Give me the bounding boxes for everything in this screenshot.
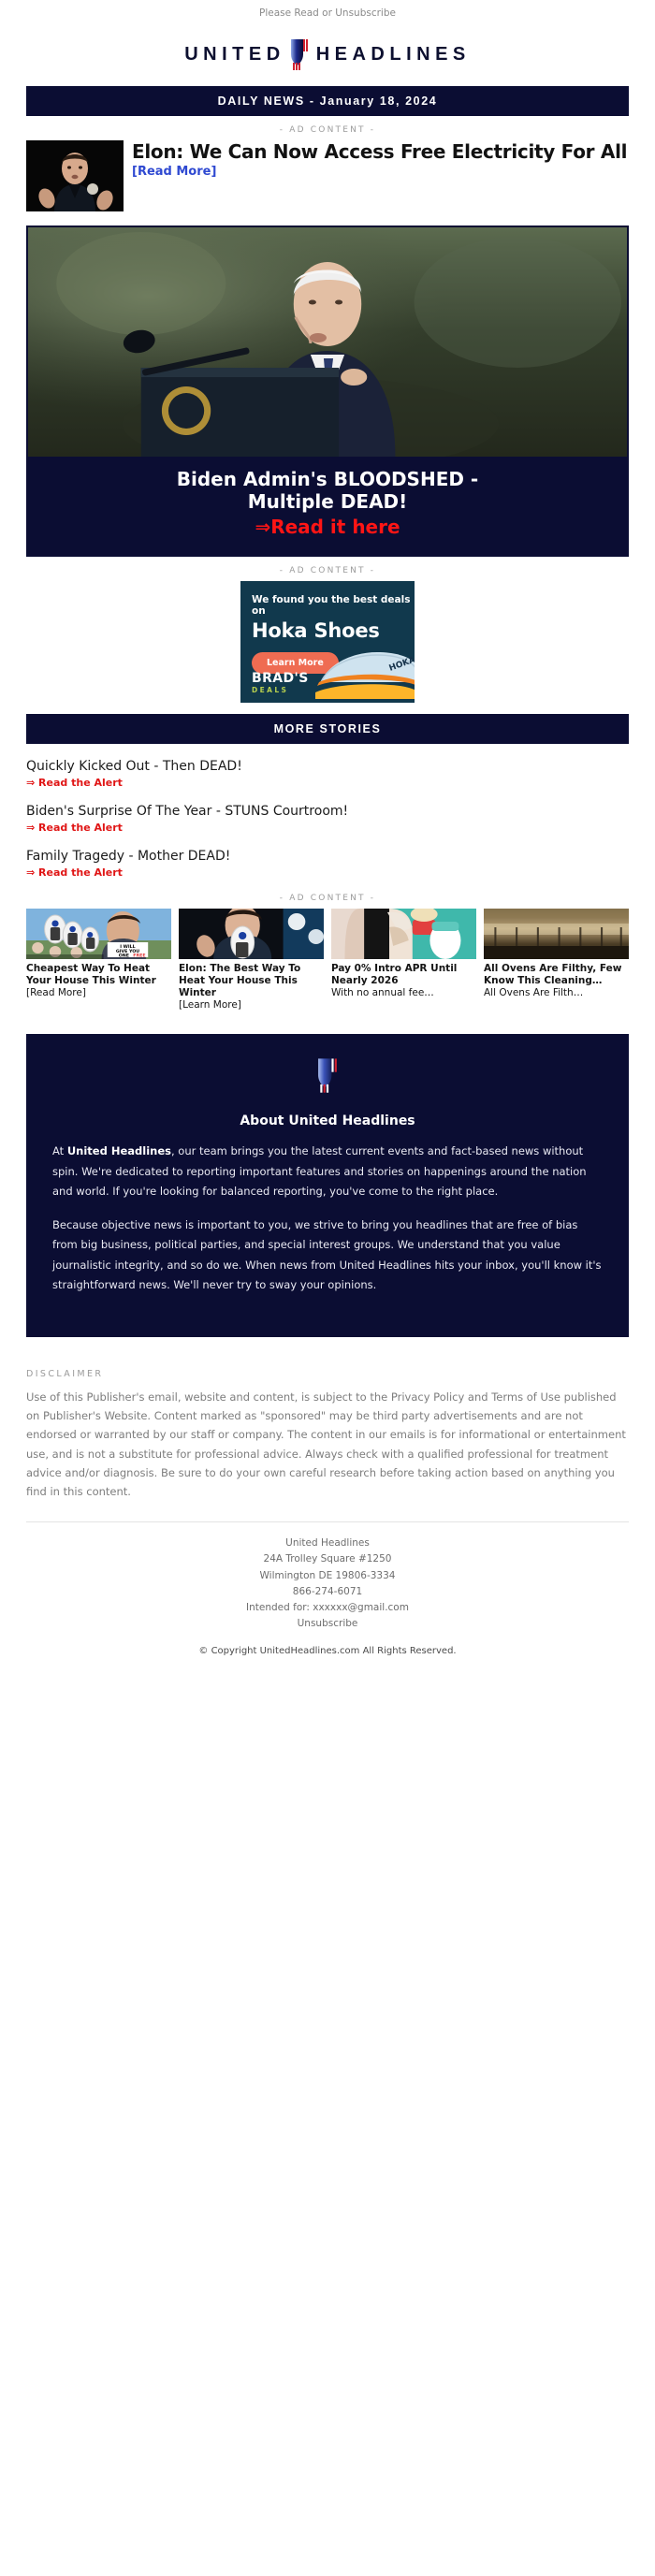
address-street: 24A Trolley Square #1250 (0, 1551, 655, 1567)
ad-card-2[interactable]: Elon: The Best Way To Heat Your House Th… (179, 909, 324, 1012)
hero-title-line2: Multiple DEAD! (37, 490, 618, 513)
list-item[interactable]: Quickly Kicked Out - Then DEAD! ⇒ Read t… (26, 750, 629, 794)
disclaimer-heading: DISCLAIMER (26, 1369, 629, 1388)
brand-header: UNITED HEADLINES (0, 22, 655, 86)
ad-card-sub[interactable]: [Learn More] (179, 999, 324, 1011)
ad-content-label-top: - AD CONTENT - (0, 116, 655, 140)
more-stories-bar: MORE STORIES (26, 714, 629, 744)
hoka-ad-line2: Hoka Shoes (240, 617, 415, 642)
dirty-oven-photo[interactable] (484, 909, 629, 959)
story-title[interactable]: Family Tragedy - Mother DEAD! (26, 849, 629, 864)
hero-caption: Biden Admin's BLOODSHED - Multiple DEAD!… (28, 457, 627, 555)
address-intended-for: Intended for: xxxxxx@gmail.com (0, 1600, 655, 1616)
biden-podium-photo[interactable] (28, 227, 627, 457)
about-p1-pre: At (52, 1144, 67, 1157)
top-ad-block[interactable]: Elon: We Can Now Access Free Electricity… (26, 140, 629, 211)
ad-card-3[interactable]: Pay 0% Intro APR Until Nearly 2026 With … (331, 909, 476, 1012)
about-paragraph-1: At United Headlines, our team brings you… (52, 1142, 603, 1215)
about-title: About United Headlines (52, 1113, 603, 1142)
disclaimer-body: Use of this Publisher's email, website a… (26, 1388, 629, 1501)
hoka-ad-line1: We found you the best deals on (240, 581, 415, 617)
copyright-text: © Copyright UnitedHeadlines.com All Righ… (0, 1633, 655, 1673)
top-ad-read-more-link[interactable]: [Read More] (132, 165, 216, 179)
preheader-text: Please Read or Unsubscribe (0, 0, 655, 22)
svg-text:FREE: FREE (133, 953, 145, 958)
ad-card-sub[interactable]: With no annual fee… (331, 987, 476, 999)
logo-word-united: UNITED (184, 44, 284, 65)
united-headlines-shield-icon (287, 36, 312, 73)
elon-holding-heater-photo[interactable] (179, 909, 324, 959)
about-p1-bold: United Headlines (67, 1144, 171, 1157)
ad-card-title[interactable]: Cheapest Way To Heat Your House This Win… (26, 963, 171, 987)
footer-address: United Headlines 24A Trolley Square #125… (0, 1522, 655, 1633)
hoka-shoes-ad[interactable]: We found you the best deals on Hoka Shoe… (240, 581, 415, 703)
about-paragraph-2: Because objective news is important to y… (52, 1215, 603, 1309)
ad-card-sub[interactable]: All Ovens Are Filth… (484, 987, 629, 999)
hero-title-line1: Biden Admin's BLOODSHED - (37, 468, 618, 490)
ad-card-sub[interactable]: [Read More] (26, 987, 171, 999)
story-read-alert-link[interactable]: ⇒ Read the Alert (26, 866, 123, 879)
brads-deals-main: BRAD'S (252, 671, 309, 686)
story-title[interactable]: Biden's Surprise Of The Year - STUNS Cou… (26, 804, 629, 819)
top-ad-title[interactable]: Elon: We Can Now Access Free Electricity… (132, 141, 627, 163)
elon-heater-crowd-photo[interactable]: I WILL GIVE YOU ONE FREE (26, 909, 171, 959)
ad-card-4[interactable]: All Ovens Are Filthy, Few Know This Clea… (484, 909, 629, 1012)
ad-card-title[interactable]: All Ovens Are Filthy, Few Know This Clea… (484, 963, 629, 987)
list-item[interactable]: Family Tragedy - Mother DEAD! ⇒ Read the… (26, 839, 629, 884)
brads-deals-sub: DEALS (252, 686, 309, 694)
hoka-shoe-image: HOKA (315, 641, 415, 699)
logo-word-headlines: HEADLINES (316, 44, 471, 65)
elon-photo[interactable] (26, 140, 124, 211)
ad-card-1[interactable]: I WILL GIVE YOU ONE FREE Cheapest Way To… (26, 909, 171, 1012)
ad-card-grid: I WILL GIVE YOU ONE FREE Cheapest Way To… (26, 909, 629, 1012)
daily-news-bar: DAILY NEWS - January 18, 2024 (26, 86, 629, 116)
story-read-alert-link[interactable]: ⇒ Read the Alert (26, 777, 123, 789)
ad-content-label-grid: - AD CONTENT - (0, 884, 655, 909)
hero-read-it-here-link[interactable]: ⇒Read it here (37, 516, 618, 538)
hero-article-block[interactable]: Biden Admin's BLOODSHED - Multiple DEAD!… (26, 226, 629, 557)
brads-deals-logo: BRAD'S DEALS (252, 671, 309, 694)
ad-content-label-hoka: - AD CONTENT - (0, 557, 655, 581)
svg-text:ONE: ONE (119, 953, 129, 958)
credit-card-woman-photo[interactable] (331, 909, 476, 959)
ad-card-title[interactable]: Pay 0% Intro APR Until Nearly 2026 (331, 963, 476, 987)
about-panel: About United Headlines At United Headlin… (26, 1034, 629, 1337)
address-city: Wilmington DE 19806-3334 (0, 1568, 655, 1584)
about-logo-icon (52, 1055, 603, 1113)
address-phone: 866-274-6071 (0, 1584, 655, 1600)
unsubscribe-link[interactable]: Unsubscribe (298, 1618, 358, 1629)
ad-card-title[interactable]: Elon: The Best Way To Heat Your House Th… (179, 963, 324, 999)
more-stories-list: Quickly Kicked Out - Then DEAD! ⇒ Read t… (26, 744, 629, 884)
story-read-alert-link[interactable]: ⇒ Read the Alert (26, 822, 123, 834)
address-company: United Headlines (0, 1535, 655, 1551)
story-title[interactable]: Quickly Kicked Out - Then DEAD! (26, 759, 629, 774)
list-item[interactable]: Biden's Surprise Of The Year - STUNS Cou… (26, 794, 629, 839)
